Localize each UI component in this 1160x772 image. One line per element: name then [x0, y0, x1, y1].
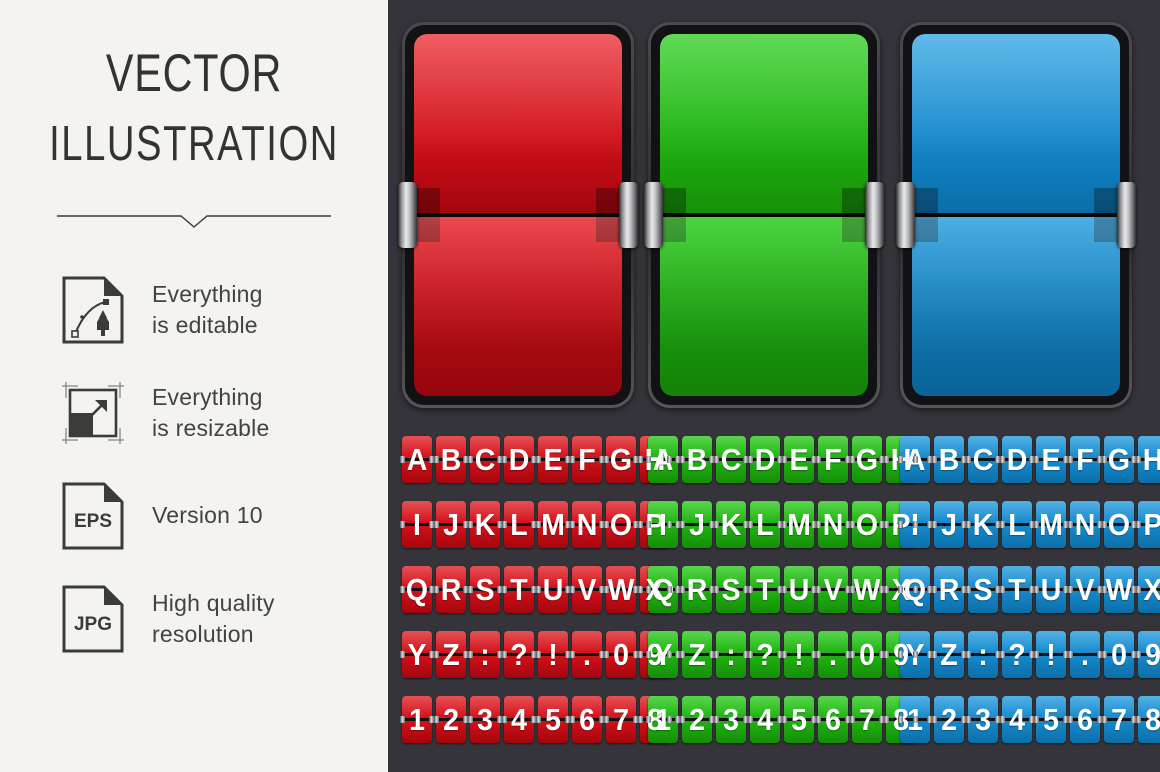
tile-character: E: [539, 436, 567, 483]
tile-hinge-pin-left: [714, 521, 719, 528]
tile-character: .: [819, 631, 847, 678]
tile-hinge-pin-left: [1102, 651, 1107, 658]
character-tile[interactable]: R: [682, 566, 712, 613]
tile-character: 4: [505, 696, 533, 743]
character-tile[interactable]: :: [470, 631, 500, 678]
feature-text-line-2: is editable: [152, 312, 258, 338]
character-tile[interactable]: 2: [436, 696, 466, 743]
tile-character: 8: [1139, 696, 1160, 743]
character-tile[interactable]: Z: [682, 631, 712, 678]
tile-hinge-pin-left: [782, 521, 787, 528]
character-tile[interactable]: 0: [852, 631, 882, 678]
tile-hinge-pin-left: [884, 456, 889, 463]
tile-hinge-pin-left: [468, 521, 473, 528]
tile-hinge-pin-left: [502, 651, 507, 658]
character-tile[interactable]: Q: [402, 566, 432, 613]
tile-hinge-pin-left: [1136, 651, 1141, 658]
character-tile[interactable]: .: [1070, 631, 1100, 678]
tile-character: ?: [505, 631, 533, 678]
tile-character: J: [683, 501, 711, 548]
tile-character: P: [1139, 501, 1160, 548]
tile-hinge-pin-left: [1102, 456, 1107, 463]
tile-character: M: [785, 501, 813, 548]
tile-hinge-pin-left: [1034, 456, 1039, 463]
character-tile[interactable]: S: [968, 566, 998, 613]
tile-character: O: [607, 501, 635, 548]
red-alphabet-row-1: ABCDEFGH: [402, 436, 670, 483]
character-tile[interactable]: Z: [934, 631, 964, 678]
tile-hinge-pin-left: [850, 716, 855, 723]
tile-character: :: [717, 631, 745, 678]
character-tile[interactable]: 4: [504, 696, 534, 743]
character-tile[interactable]: Q: [648, 566, 678, 613]
tile-character: S: [471, 566, 499, 613]
tile-character: N: [819, 501, 847, 548]
tile-hinge-pin-left: [816, 586, 821, 593]
character-tile[interactable]: E: [784, 436, 814, 483]
hinge-pin-right: [1117, 182, 1136, 248]
character-tile[interactable]: C: [968, 436, 998, 483]
feature-list: Everything is editable: [0, 258, 388, 670]
card-face: [414, 34, 622, 396]
tile-character: I: [403, 501, 431, 548]
poster-canvas: VECTOR ILLUSTRATION: [0, 0, 1160, 772]
character-tile[interactable]: J: [436, 501, 466, 548]
list-item: EPS Version 10: [0, 464, 388, 567]
character-tile[interactable]: 7: [852, 696, 882, 743]
tile-hinge-pin-left: [966, 716, 971, 723]
tile-character: 6: [819, 696, 847, 743]
character-tile[interactable]: .: [818, 631, 848, 678]
tile-hinge-pin-left: [646, 651, 651, 658]
tile-character: F: [819, 436, 847, 483]
tile-hinge-pin-left: [1068, 586, 1073, 593]
character-tile[interactable]: L: [504, 501, 534, 548]
character-tile[interactable]: 0: [1104, 631, 1134, 678]
character-tile[interactable]: S: [470, 566, 500, 613]
tile-character: 6: [573, 696, 601, 743]
flip-board-panel: ABCDEFGHABCDEFGHABCDEFGHIJKLMNOPIJKLMNOP…: [388, 0, 1160, 772]
character-tile[interactable]: N: [572, 501, 602, 548]
tile-character: 1: [649, 696, 677, 743]
tile-character: S: [717, 566, 745, 613]
character-tile[interactable]: V: [1070, 566, 1100, 613]
character-tile[interactable]: K: [968, 501, 998, 548]
tile-hinge-pin-left: [1136, 456, 1141, 463]
tile-hinge-pin-left: [748, 456, 753, 463]
feature-text-line-2: resolution: [152, 621, 254, 647]
character-tile[interactable]: !: [1036, 631, 1066, 678]
red-alphabet-row-3: QRSTUVWX: [402, 566, 670, 613]
tile-hinge-pin-left: [1102, 716, 1107, 723]
character-tile[interactable]: D: [504, 436, 534, 483]
character-tile[interactable]: X: [1138, 566, 1160, 613]
tile-character: G: [853, 436, 881, 483]
character-tile[interactable]: M: [1036, 501, 1066, 548]
character-tile[interactable]: O: [1104, 501, 1134, 548]
tile-hinge-pin-left: [748, 521, 753, 528]
character-tile[interactable]: 2: [682, 696, 712, 743]
tile-hinge-pin-left: [898, 716, 903, 723]
card-bottom-half: [660, 217, 868, 396]
character-tile[interactable]: D: [750, 436, 780, 483]
tile-character: Z: [437, 631, 465, 678]
tile-hinge-pin-left: [932, 651, 937, 658]
tile-character: R: [437, 566, 465, 613]
tile-hinge-pin-left: [932, 586, 937, 593]
title-line-1: VECTOR: [106, 44, 282, 103]
eps-label: EPS: [74, 511, 112, 532]
feature-text-line-1: Everything: [152, 281, 263, 307]
tile-hinge-pin-left: [400, 586, 405, 593]
character-tile[interactable]: 0: [606, 631, 636, 678]
title-line-2: ILLUSTRATION: [43, 117, 346, 172]
character-tile[interactable]: ?: [504, 631, 534, 678]
tile-character: E: [785, 436, 813, 483]
tile-hinge-pin-left: [898, 456, 903, 463]
tile-character: 2: [935, 696, 963, 743]
character-tile[interactable]: 7: [606, 696, 636, 743]
tile-character: :: [969, 631, 997, 678]
tile-character: J: [437, 501, 465, 548]
blue-alphabet-row-5: 12345678: [900, 696, 1160, 743]
character-tile[interactable]: Z: [436, 631, 466, 678]
green-flip-card[interactable]: [648, 22, 880, 408]
character-tile[interactable]: O: [606, 501, 636, 548]
tile-character: !: [539, 631, 567, 678]
tile-character: B: [683, 436, 711, 483]
hinge-pin-left: [398, 182, 417, 248]
tile-character: T: [751, 566, 779, 613]
tile-character: 0: [607, 631, 635, 678]
character-tile[interactable]: K: [716, 501, 746, 548]
tile-character: T: [505, 566, 533, 613]
character-tile[interactable]: I: [402, 501, 432, 548]
character-tile[interactable]: T: [504, 566, 534, 613]
tile-hinge-pin-right: [667, 586, 672, 593]
character-tile[interactable]: S: [716, 566, 746, 613]
tile-character: D: [751, 436, 779, 483]
character-tile[interactable]: .: [572, 631, 602, 678]
character-tile[interactable]: G: [852, 436, 882, 483]
card-top-half: [660, 34, 868, 213]
tile-character: 0: [853, 631, 881, 678]
character-tile[interactable]: 6: [1070, 696, 1100, 743]
tile-character: S: [969, 566, 997, 613]
tile-character: H: [1139, 436, 1160, 483]
tile-hinge-pin-left: [468, 651, 473, 658]
character-tile[interactable]: F: [572, 436, 602, 483]
tile-hinge-pin-left: [1068, 521, 1073, 528]
tile-hinge-pin-left: [748, 586, 753, 593]
tile-hinge-pin-left: [536, 716, 541, 723]
feature-text-line-1: Version 10: [152, 502, 263, 528]
tile-hinge-pin-right: [913, 716, 918, 723]
character-tile[interactable]: 5: [538, 696, 568, 743]
card-top-half: [414, 34, 622, 213]
tile-hinge-pin-left: [536, 456, 541, 463]
tile-hinge-pin-left: [400, 651, 405, 658]
tile-hinge-pin-left: [816, 651, 821, 658]
tile-hinge-pin-left: [570, 716, 575, 723]
tile-character: Y: [649, 631, 677, 678]
character-tile[interactable]: E: [1036, 436, 1066, 483]
tile-hinge-pin-left: [1034, 521, 1039, 528]
tile-character: V: [573, 566, 601, 613]
blue-alphabet-row-3: QRSTUVWX: [900, 566, 1160, 613]
tile-character: .: [1071, 631, 1099, 678]
tile-hinge-pin-left: [680, 456, 685, 463]
character-tile[interactable]: W: [852, 566, 882, 613]
tile-hinge-pin-left: [1102, 521, 1107, 528]
tile-hinge-pin-left: [1068, 716, 1073, 723]
tile-hinge-pin-left: [1000, 586, 1005, 593]
tile-character: D: [1003, 436, 1031, 483]
card-face: [660, 34, 868, 396]
tile-hinge-pin-left: [782, 456, 787, 463]
character-tile[interactable]: 5: [784, 696, 814, 743]
tile-hinge-pin-left: [748, 716, 753, 723]
list-item: JPG High quality resolution: [0, 567, 388, 670]
eps-file-icon: EPS: [58, 480, 128, 552]
character-tile[interactable]: E: [538, 436, 568, 483]
character-tile[interactable]: F: [818, 436, 848, 483]
tile-character: 9: [1139, 631, 1160, 678]
character-tile[interactable]: T: [1002, 566, 1032, 613]
tile-hinge-pin-left: [638, 521, 643, 528]
tile-hinge-pin-left: [604, 716, 609, 723]
character-tile[interactable]: 8: [1138, 696, 1160, 743]
tile-character: .: [573, 631, 601, 678]
tile-character: G: [1105, 436, 1133, 483]
character-tile[interactable]: D: [1002, 436, 1032, 483]
tile-row: ABCDEFGHABCDEFGHABCDEFGH: [388, 436, 1160, 501]
tile-hinge-pin-left: [782, 716, 787, 723]
tile-character: L: [1003, 501, 1031, 548]
tile-hinge-pin-right: [667, 456, 672, 463]
character-tile[interactable]: A: [648, 436, 678, 483]
tile-character: 5: [1037, 696, 1065, 743]
tile-hinge-pin-left: [400, 521, 405, 528]
tile-hinge-pin-left: [434, 651, 439, 658]
big-flip-card-row: [388, 0, 1160, 428]
tile-hinge-pin-left: [680, 651, 685, 658]
character-tile[interactable]: U: [784, 566, 814, 613]
card-bottom-half: [414, 217, 622, 396]
tile-character: 5: [539, 696, 567, 743]
character-tile[interactable]: B: [436, 436, 466, 483]
tile-hinge-pin-left: [434, 456, 439, 463]
tile-hinge-pin-left: [646, 586, 651, 593]
green-alphabet-row-5: 12345678: [648, 696, 916, 743]
tile-hinge-pin-left: [502, 456, 507, 463]
tile-character: Z: [683, 631, 711, 678]
character-tile[interactable]: V: [818, 566, 848, 613]
tile-character: U: [1037, 566, 1065, 613]
blue-flip-card[interactable]: [900, 22, 1132, 408]
tile-hinge-pin-left: [502, 716, 507, 723]
character-tile[interactable]: 6: [818, 696, 848, 743]
tile-character: B: [437, 436, 465, 483]
red-flip-card[interactable]: [402, 22, 634, 408]
tile-hinge-pin-right: [667, 521, 672, 528]
character-tile[interactable]: W: [606, 566, 636, 613]
tile-hinge-pin-right: [913, 521, 918, 528]
tile-character: Q: [403, 566, 431, 613]
character-tile[interactable]: R: [934, 566, 964, 613]
tile-hinge-pin-left: [638, 651, 643, 658]
character-tile[interactable]: 2: [934, 696, 964, 743]
character-tile[interactable]: 1: [648, 696, 678, 743]
character-tile[interactable]: 3: [716, 696, 746, 743]
character-tile[interactable]: U: [1036, 566, 1066, 613]
feature-text: Everything is editable: [152, 279, 263, 341]
resize-arrow-icon: [58, 377, 128, 449]
card-frame: [405, 25, 631, 405]
tile-hinge-pin-left: [434, 586, 439, 593]
character-tile[interactable]: L: [1002, 501, 1032, 548]
tile-hinge-pin-left: [714, 586, 719, 593]
tile-hinge-pin-left: [1136, 716, 1141, 723]
tile-character: E: [1037, 436, 1065, 483]
tile-character: G: [607, 436, 635, 483]
card-frame: [903, 25, 1129, 405]
character-tile[interactable]: J: [682, 501, 712, 548]
character-tile[interactable]: 1: [402, 696, 432, 743]
tile-hinge-pin-left: [898, 521, 903, 528]
tile-hinge-pin-left: [536, 521, 541, 528]
tile-character: U: [785, 566, 813, 613]
feature-text-line-2: is resizable: [152, 415, 269, 441]
tile-character: ?: [1003, 631, 1031, 678]
character-tile[interactable]: B: [934, 436, 964, 483]
card-split-line: [414, 213, 622, 217]
tile-character: W: [607, 566, 635, 613]
tile-hinge-pin-left: [898, 651, 903, 658]
tile-hinge-pin-left: [966, 521, 971, 528]
character-tile[interactable]: 4: [750, 696, 780, 743]
character-tile[interactable]: ?: [1002, 631, 1032, 678]
character-tile[interactable]: K: [470, 501, 500, 548]
tile-hinge-pin-left: [570, 586, 575, 593]
tile-hinge-pin-left: [932, 521, 937, 528]
tile-character: W: [853, 566, 881, 613]
tile-hinge-pin-left: [1034, 586, 1039, 593]
character-tile[interactable]: N: [818, 501, 848, 548]
character-tile[interactable]: O: [852, 501, 882, 548]
character-tile[interactable]: A: [402, 436, 432, 483]
tile-hinge-pin-left: [782, 651, 787, 658]
tile-hinge-pin-left: [646, 521, 651, 528]
tile-hinge-pin-left: [1136, 521, 1141, 528]
character-tile[interactable]: Y: [402, 631, 432, 678]
green-alphabet-row-1: ABCDEFGH: [648, 436, 916, 483]
character-tile[interactable]: W: [1104, 566, 1134, 613]
tile-character: U: [539, 566, 567, 613]
tile-hinge-pin-left: [680, 521, 685, 528]
character-tile[interactable]: 7: [1104, 696, 1134, 743]
character-tile[interactable]: M: [538, 501, 568, 548]
character-tile[interactable]: C: [716, 436, 746, 483]
character-tile[interactable]: !: [538, 631, 568, 678]
tile-hinge-pin-left: [898, 586, 903, 593]
card-face: [912, 34, 1120, 396]
tile-character: R: [683, 566, 711, 613]
tile-character: N: [573, 501, 601, 548]
tile-hinge-pin-left: [1102, 586, 1107, 593]
tile-character: Y: [403, 631, 431, 678]
character-tile[interactable]: N: [1070, 501, 1100, 548]
character-tile[interactable]: M: [784, 501, 814, 548]
tile-character: V: [1071, 566, 1099, 613]
character-tile[interactable]: 4: [1002, 696, 1032, 743]
document-pen-tool-icon: [58, 274, 128, 346]
list-item: Everything is editable: [0, 258, 388, 361]
character-tile[interactable]: 9: [1138, 631, 1160, 678]
character-tile[interactable]: I: [648, 501, 678, 548]
card-split-line: [912, 213, 1120, 217]
character-tile[interactable]: V: [572, 566, 602, 613]
blue-alphabet-row-4: YZ:?!.09: [900, 631, 1160, 678]
tile-row: YZ:?!.09YZ:?!.09YZ:?!.09: [388, 631, 1160, 696]
feature-text-line-1: Everything: [152, 384, 263, 410]
tile-hinge-pin-left: [468, 456, 473, 463]
character-tile[interactable]: :: [716, 631, 746, 678]
tile-hinge-pin-left: [1034, 716, 1039, 723]
tile-character: Z: [935, 631, 963, 678]
tile-hinge-pin-left: [816, 716, 821, 723]
character-tile[interactable]: L: [750, 501, 780, 548]
character-tile[interactable]: G: [606, 436, 636, 483]
character-tile[interactable]: T: [750, 566, 780, 613]
tile-character: 2: [437, 696, 465, 743]
tile-character: C: [717, 436, 745, 483]
character-tile[interactable]: 3: [968, 696, 998, 743]
character-tile[interactable]: !: [784, 631, 814, 678]
character-tile[interactable]: :: [968, 631, 998, 678]
jpg-label: JPG: [74, 614, 112, 635]
tile-hinge-pin-left: [604, 651, 609, 658]
character-tile[interactable]: P: [1138, 501, 1160, 548]
tile-character: A: [403, 436, 431, 483]
character-tile[interactable]: Y: [648, 631, 678, 678]
character-tile[interactable]: 3: [470, 696, 500, 743]
tile-character: 2: [683, 696, 711, 743]
tile-character: C: [969, 436, 997, 483]
character-tile[interactable]: H: [1138, 436, 1160, 483]
character-tile[interactable]: C: [470, 436, 500, 483]
hinge-pin-right: [865, 182, 884, 248]
character-tile[interactable]: R: [436, 566, 466, 613]
character-tile[interactable]: G: [1104, 436, 1134, 483]
character-tile[interactable]: U: [538, 566, 568, 613]
tile-character: 5: [785, 696, 813, 743]
divider: [57, 210, 331, 228]
tile-hinge-pin-left: [1000, 521, 1005, 528]
tile-character: T: [1003, 566, 1031, 613]
tile-hinge-pin-left: [966, 586, 971, 593]
tile-hinge-pin-left: [502, 586, 507, 593]
tile-hinge-pin-right: [667, 651, 672, 658]
character-tile[interactable]: ?: [750, 631, 780, 678]
character-tile[interactable]: B: [682, 436, 712, 483]
character-tile[interactable]: J: [934, 501, 964, 548]
tile-hinge-pin-left: [434, 716, 439, 723]
character-tile[interactable]: 5: [1036, 696, 1066, 743]
character-tile[interactable]: F: [1070, 436, 1100, 483]
character-tile[interactable]: 6: [572, 696, 602, 743]
tile-character: C: [471, 436, 499, 483]
